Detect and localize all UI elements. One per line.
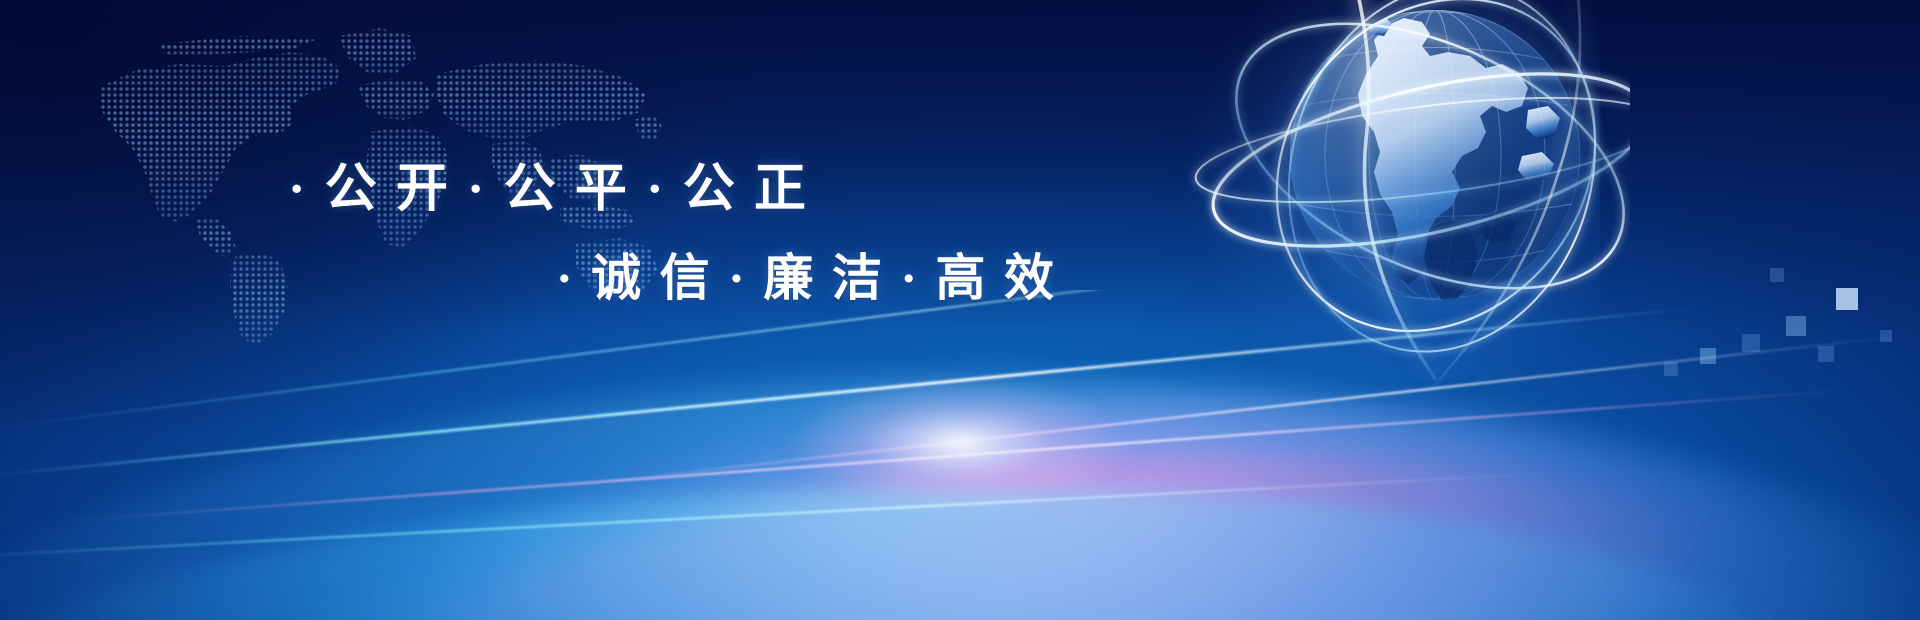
light-hotspot (790, 378, 1130, 508)
light-wave-aurora-icon (0, 290, 1920, 620)
promo-banner: · 公 开 · 公 平 · 公 正 · 诚 信 · 廉 洁 · 高 效 (0, 0, 1920, 620)
